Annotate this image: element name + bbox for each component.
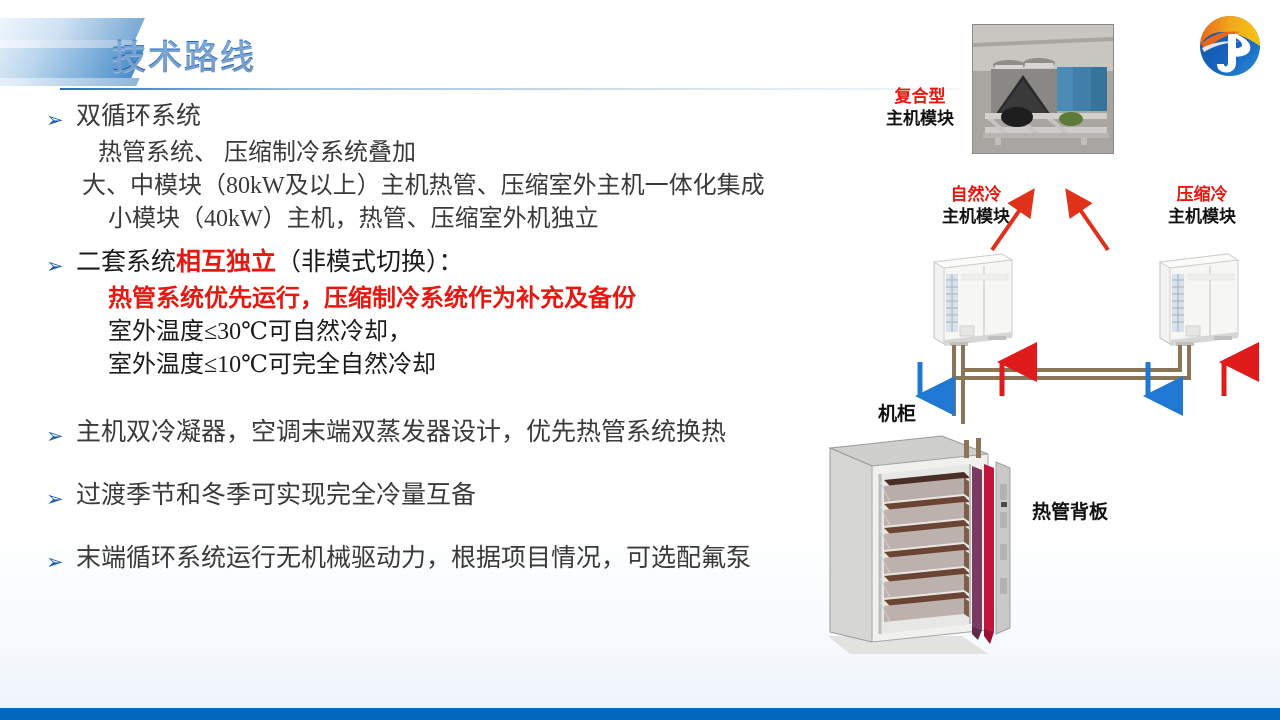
slide-root: 技术路线 bbox=[0, 0, 1280, 720]
bullet-item-1: ➢ 双循环系统 bbox=[46, 100, 876, 137]
label-compressor-top: 压缩冷 bbox=[1152, 184, 1252, 206]
bullet-1-heading: 双循环系统 bbox=[76, 100, 876, 134]
system-diagram: 复合型 主机模块 自然冷 主机模块 压缩冷 主机模块 bbox=[800, 0, 1280, 720]
arrow-up-red-icon-left bbox=[992, 198, 1028, 250]
backplane-strip-purple bbox=[972, 466, 982, 630]
outdoor-unit-free-cooling bbox=[930, 250, 1014, 350]
bullet-2-heading-part-1: 二套系统 bbox=[76, 249, 176, 276]
bullet-3-heading: 主机双冷凝器，空调末端双蒸发器设计，优先热管系统换热 bbox=[76, 416, 876, 450]
bullet-1-line-3: 小模块（40kW）主机，热管、压缩室外机独立 bbox=[46, 203, 876, 236]
page-title: 技术路线 bbox=[112, 30, 256, 79]
label-composite-top: 复合型 bbox=[872, 86, 968, 108]
bullet-arrow-icon: ➢ bbox=[46, 479, 76, 516]
bullet-item-3: ➢ 主机双冷凝器，空调末端双蒸发器设计，优先热管系统换热 bbox=[46, 416, 876, 453]
label-backplane-text: 热管背板 bbox=[1032, 502, 1108, 524]
content-body: ➢ 双循环系统 热管系统、 压缩制冷系统叠加 大、中模块（80kW及以上）主机热… bbox=[46, 100, 876, 579]
backplane-strip-red bbox=[984, 464, 994, 632]
bullet-2-line-3: 室外温度≤10℃可完全自然冷却 bbox=[46, 349, 876, 382]
bullet-2-line-2: 室外温度≤30℃可自然冷却， bbox=[46, 316, 876, 349]
bullet-item-2: ➢ 二套系统相互独立（非模式切换）： bbox=[46, 246, 876, 283]
bullet-1-line-2: 大、中模块（80kW及以上）主机热管、压缩室外主机一体化集成 bbox=[46, 170, 876, 203]
bullet-arrow-icon: ➢ bbox=[46, 100, 76, 137]
outdoor-unit-compressor bbox=[1156, 250, 1240, 350]
label-composite-module: 复合型 主机模块 bbox=[872, 86, 968, 130]
arrow-up-red-icon-right bbox=[1072, 198, 1108, 250]
bullet-item-5: ➢ 末端循环系统运行无机械驱动力，根据项目情况，可选配氟泵 bbox=[46, 542, 876, 579]
label-composite-bottom: 主机模块 bbox=[872, 108, 968, 130]
bullet-5-heading: 末端循环系统运行无机械驱动力，根据项目情况，可选配氟泵 bbox=[76, 542, 876, 576]
label-compressor-cooling-module: 压缩冷 主机模块 bbox=[1152, 184, 1252, 228]
converging-arrows bbox=[980, 188, 1120, 254]
pipe-horizontal-b bbox=[954, 362, 1189, 416]
server-rack bbox=[812, 418, 1022, 668]
bullet-2-line-1: 热管系统优先运行，压缩制冷系统作为补充及备份 bbox=[46, 283, 876, 316]
bullet-4-heading: 过渡季节和冬季可实现完全冷量互备 bbox=[76, 479, 876, 513]
chiller-photo bbox=[972, 24, 1114, 154]
bullet-arrow-icon: ➢ bbox=[46, 542, 76, 579]
bullet-arrow-icon: ➢ bbox=[46, 416, 76, 453]
pipe-horizontal-a bbox=[963, 355, 1180, 424]
bullet-2-heading-part-3: （非模式切换）： bbox=[276, 249, 464, 276]
bullet-2-heading-part-2: 相互独立 bbox=[176, 249, 276, 276]
bullet-2-heading: 二套系统相互独立（非模式切换）： bbox=[76, 246, 876, 280]
deco-band-4 bbox=[0, 78, 140, 86]
label-compressor-bottom: 主机模块 bbox=[1152, 206, 1252, 228]
bullet-item-4: ➢ 过渡季节和冬季可实现完全冷量互备 bbox=[46, 479, 876, 516]
label-heatpipe-backplane: 热管背板 bbox=[1032, 502, 1108, 524]
bottom-accent-bar bbox=[0, 708, 1280, 720]
bullet-1-line-1: 热管系统、 压缩制冷系统叠加 bbox=[46, 137, 876, 170]
bullet-arrow-icon: ➢ bbox=[46, 246, 76, 283]
